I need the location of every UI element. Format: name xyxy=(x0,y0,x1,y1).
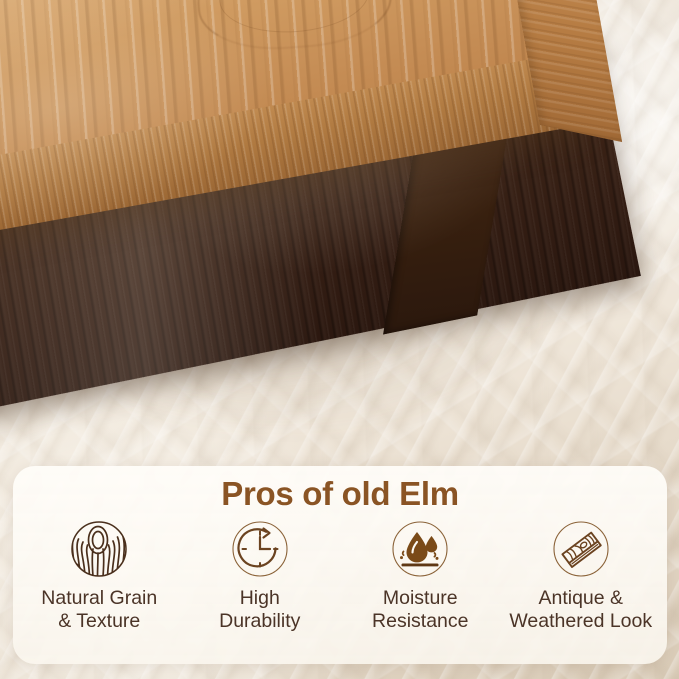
product-infographic: Pros of old Elm xyxy=(0,0,679,679)
pros-info-card: Pros of old Elm xyxy=(13,466,667,664)
clock-rotate-icon xyxy=(229,518,291,580)
water-droplet-icon xyxy=(389,518,451,580)
feature-natural-grain: Natural Grain & Texture xyxy=(19,518,180,633)
feature-label: Antique & Weathered Look xyxy=(509,587,652,633)
wood-grain-icon xyxy=(68,518,130,580)
feature-list: Natural Grain & Texture xyxy=(19,518,661,633)
wood-plank-icon xyxy=(550,518,612,580)
feature-antique-weathered: Antique & Weathered Look xyxy=(501,518,662,633)
feature-label: High Durability xyxy=(219,587,300,633)
feature-label: Natural Grain & Texture xyxy=(41,587,157,633)
feature-moisture-resistance: Moisture Resistance xyxy=(340,518,501,633)
card-title: Pros of old Elm xyxy=(13,475,667,513)
feature-high-durability: High Durability xyxy=(180,518,341,633)
feature-label: Moisture Resistance xyxy=(372,587,468,633)
